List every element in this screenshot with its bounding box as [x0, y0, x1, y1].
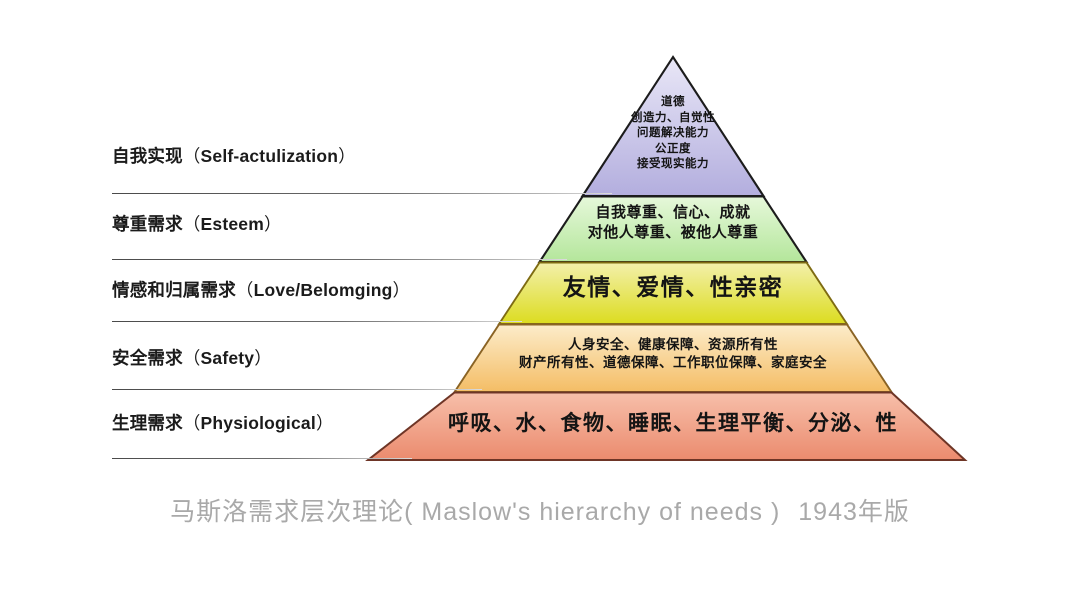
- tier-line: 问题解决能力: [631, 126, 715, 142]
- side-label-safety: 安全需求（Safety）: [112, 349, 272, 368]
- tier-line: 道德: [631, 95, 715, 111]
- caption-en: ( Maslow's hierarchy of needs ): [404, 498, 780, 526]
- tier-text-safety: 人身安全、健康保障、资源所有性 财产所有性、道德保障、工作职位保障、家庭安全: [519, 336, 827, 372]
- tier-line: 人身安全、健康保障、资源所有性: [519, 336, 827, 354]
- side-label-love-belonging: 情感和归属需求（Love/Belomging）: [112, 281, 410, 300]
- tier-line: 创造力、自觉性: [631, 111, 715, 127]
- diagram-caption: 马斯洛需求层次理论( Maslow's hierarchy of needs )…: [0, 492, 1080, 528]
- caption-cn: 马斯洛需求层次理论: [170, 498, 404, 526]
- side-label-paren-open: （: [183, 348, 201, 368]
- divider-line-5: [112, 458, 412, 459]
- tier-text-love-belonging: 友情、爱情、性亲密: [563, 272, 784, 303]
- side-label-paren-close: ）: [254, 348, 272, 368]
- side-label-cn: 自我实现: [112, 146, 183, 166]
- side-label-paren-open: （: [183, 413, 201, 433]
- tier-line: 呼吸、水、食物、睡眠、生理平衡、分泌、性: [448, 410, 898, 438]
- side-label-en: Physiological: [201, 413, 316, 433]
- side-label-en: Esteem: [201, 214, 264, 234]
- side-label-en: Self-actulization: [201, 146, 339, 166]
- divider-line-1: [112, 193, 612, 194]
- divider-line-2: [112, 259, 567, 260]
- tier-line: 自我尊重、信心、成就: [588, 203, 759, 223]
- side-label-paren-close: ）: [393, 280, 411, 300]
- side-label-paren-close: ）: [316, 413, 334, 433]
- tier-line: 接受现实能力: [631, 157, 715, 173]
- tier-text-physiological: 呼吸、水、食物、睡眠、生理平衡、分泌、性: [448, 410, 898, 438]
- side-label-paren-open: （: [183, 146, 201, 166]
- side-label-cn: 情感和归属需求: [112, 280, 236, 300]
- side-label-en: Love/Belomging: [254, 280, 393, 300]
- tier-text-esteem: 自我尊重、信心、成就 对他人尊重、被他人尊重: [588, 203, 759, 244]
- side-label-self-actualization: 自我实现（Self-actulization）: [112, 147, 356, 166]
- side-label-paren-close: ）: [338, 146, 356, 166]
- caption-year: 1943年版: [798, 498, 910, 526]
- divider-line-4: [112, 389, 482, 390]
- tier-line: 友情、爱情、性亲密: [563, 272, 784, 303]
- side-label-cn: 安全需求: [112, 348, 183, 368]
- side-label-physiological: 生理需求（Physiological）: [112, 414, 334, 433]
- side-label-cn: 尊重需求: [112, 214, 183, 234]
- tier-line: 财产所有性、道德保障、工作职位保障、家庭安全: [519, 354, 827, 372]
- tier-text-self-actualization: 道德 创造力、自觉性 问题解决能力 公正度 接受现实能力: [631, 95, 715, 173]
- tier-line: 公正度: [631, 142, 715, 158]
- side-label-paren-close: ）: [264, 214, 282, 234]
- side-label-paren-open: （: [236, 280, 254, 300]
- side-label-en: Safety: [201, 348, 255, 368]
- divider-line-3: [112, 321, 522, 322]
- side-label-paren-open: （: [183, 214, 201, 234]
- side-label-cn: 生理需求: [112, 413, 183, 433]
- tier-line: 对他人尊重、被他人尊重: [588, 223, 759, 243]
- side-label-esteem: 尊重需求（Esteem）: [112, 215, 282, 234]
- diagram-canvas: 道德 创造力、自觉性 问题解决能力 公正度 接受现实能力 自我尊重、信心、成就 …: [0, 0, 1080, 600]
